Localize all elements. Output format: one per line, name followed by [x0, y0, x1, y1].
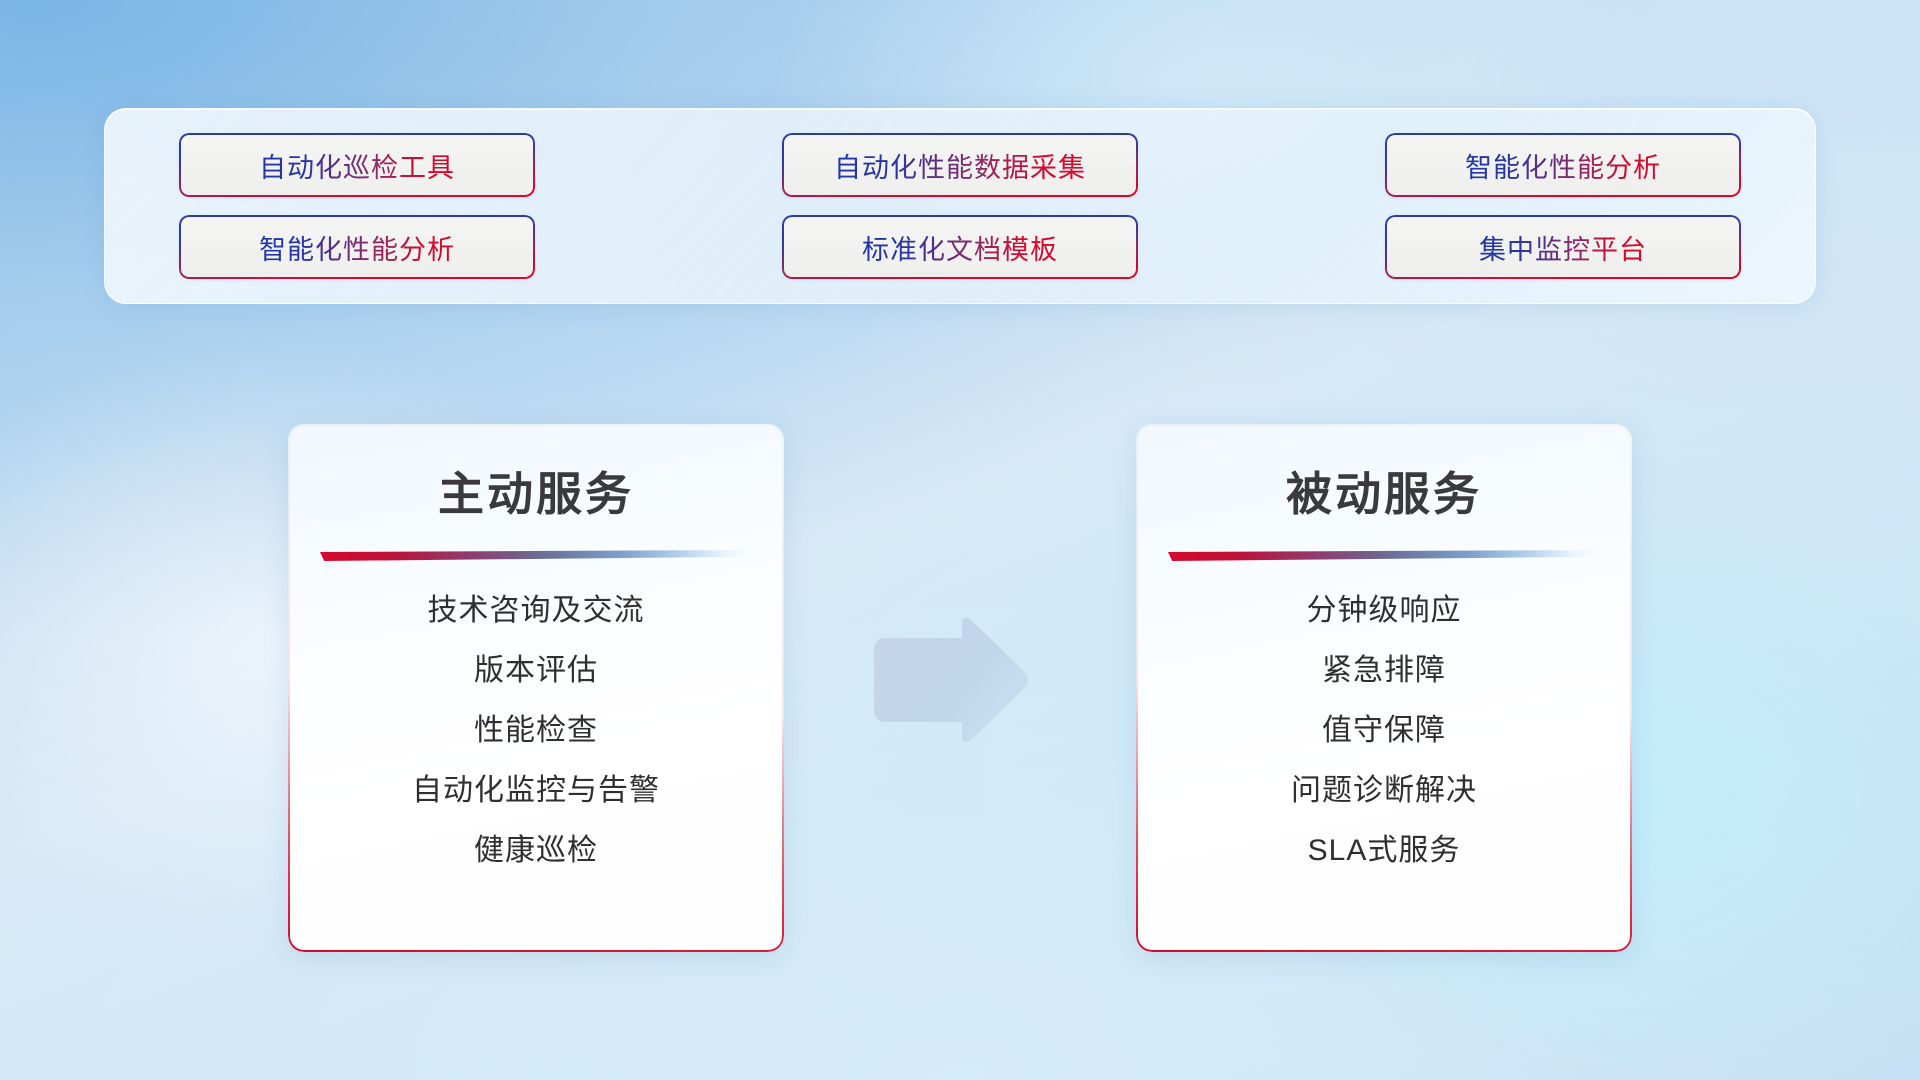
service-item-list: 技术咨询及交流 版本评估 性能检查 自动化监控与告警 健康巡检	[288, 596, 784, 866]
divider-bar	[1168, 550, 1596, 561]
list-item: 版本评估	[288, 656, 784, 686]
list-item: 健康巡检	[288, 836, 784, 866]
list-item: 自动化监控与告警	[288, 776, 784, 806]
capability-pill-label: 智能化性能分析	[259, 228, 455, 267]
service-item-list: 分钟级响应 紧急排障 值守保障 问题诊断解决 SLA式服务	[1136, 596, 1632, 866]
card-title-divider	[320, 550, 748, 562]
capability-pill-label: 集中监控平台	[1479, 228, 1647, 267]
capability-pill[interactable]: 智能化性能分析	[179, 215, 535, 279]
capability-pill[interactable]: 集中监控平台	[1385, 215, 1741, 279]
list-item: 分钟级响应	[1136, 596, 1632, 626]
list-item: 值守保障	[1136, 716, 1632, 746]
capability-row-2: 智能化性能分析 标准化文档模板 集中监控平台	[179, 215, 1741, 279]
capabilities-panel: 自动化巡检工具 自动化性能数据采集 智能化性能分析 智能化性能分析 标准化文档模…	[104, 108, 1816, 304]
list-item: 性能检查	[288, 716, 784, 746]
card-title: 被动服务	[1136, 458, 1632, 524]
capability-pill-label: 自动化性能数据采集	[834, 146, 1086, 185]
list-item: 问题诊断解决	[1136, 776, 1632, 806]
service-card-reactive[interactable]: 被动服务 分钟级响应 紧急排障 值守保障 问题诊断解决 SLA式服务	[1136, 424, 1632, 952]
capability-pill-label: 智能化性能分析	[1465, 146, 1661, 185]
capability-pill[interactable]: 智能化性能分析	[1385, 133, 1741, 197]
capability-pill[interactable]: 自动化巡检工具	[179, 133, 535, 197]
capability-pill-label: 自动化巡检工具	[259, 146, 455, 185]
slide-canvas: 自动化巡检工具 自动化性能数据采集 智能化性能分析 智能化性能分析 标准化文档模…	[0, 0, 1920, 1080]
capability-row-1: 自动化巡检工具 自动化性能数据采集 智能化性能分析	[179, 133, 1741, 197]
divider-bar	[320, 550, 748, 561]
list-item: 技术咨询及交流	[288, 596, 784, 626]
card-title: 主动服务	[288, 458, 784, 524]
list-item: SLA式服务	[1136, 836, 1632, 866]
capability-pill[interactable]: 自动化性能数据采集	[782, 133, 1138, 197]
capability-pill[interactable]: 标准化文档模板	[782, 215, 1138, 279]
service-card-proactive[interactable]: 主动服务 技术咨询及交流 版本评估 性能检查 自动化监控与告警 健康巡检	[288, 424, 784, 952]
arrow-right-icon	[870, 614, 1030, 746]
capability-pill-label: 标准化文档模板	[862, 228, 1058, 267]
card-title-divider	[1168, 550, 1596, 562]
list-item: 紧急排障	[1136, 656, 1632, 686]
